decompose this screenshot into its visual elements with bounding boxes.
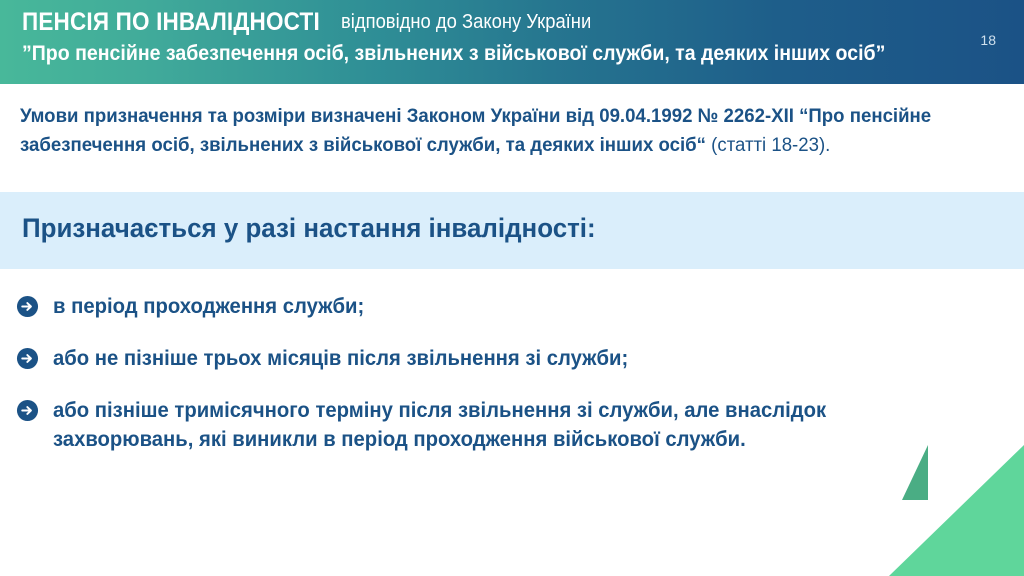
arrow-circle-right-icon <box>16 295 39 318</box>
arrow-circle-right-icon <box>16 399 39 422</box>
page-title: ПЕНСІЯ ПО ІНВАЛІДНОСТІ <box>22 9 320 35</box>
page-subtitle: відповідно до Закону України <box>341 12 591 33</box>
section-banner-title: Призначається у разі настання інваліднос… <box>22 213 596 244</box>
slide-header: ПЕНСІЯ ПО ІНВАЛІДНОСТІ відповідно до Зак… <box>0 0 1024 84</box>
list-item-label: в період проходження служби; <box>53 292 364 322</box>
arrow-circle-right-icon <box>16 347 39 370</box>
list-item: в період проходження служби; <box>16 292 876 322</box>
header-title-line-2: ”Про пенсійне забезпечення осіб, звільне… <box>22 42 885 66</box>
list-item: або пізніше тримісячного терміну після з… <box>16 396 876 456</box>
intro-paragraph: Умови призначення та розміри визначені З… <box>20 102 965 160</box>
decorative-dark-teal-triangle <box>902 445 928 500</box>
list-item-label: або пізніше тримісячного терміну після з… <box>53 396 847 456</box>
decorative-blue-band <box>764 510 1024 576</box>
slide-root: ПЕНСІЯ ПО ІНВАЛІДНОСТІ відповідно до Зак… <box>0 0 1024 576</box>
bullet-list: в період проходження служби; або не пізн… <box>16 292 876 477</box>
intro-articles-reference: (статті 18-23). <box>711 134 830 156</box>
list-item-label: або не пізніше трьох місяців після звіль… <box>53 344 628 374</box>
section-banner: Призначається у разі настання інваліднос… <box>0 192 1024 269</box>
header-title-line-1: ПЕНСІЯ ПО ІНВАЛІДНОСТІ відповідно до Зак… <box>22 9 1024 35</box>
list-item: або не пізніше трьох місяців після звіль… <box>16 344 876 374</box>
decorative-green-triangle <box>889 445 1024 576</box>
page-number: 18 <box>980 32 996 48</box>
